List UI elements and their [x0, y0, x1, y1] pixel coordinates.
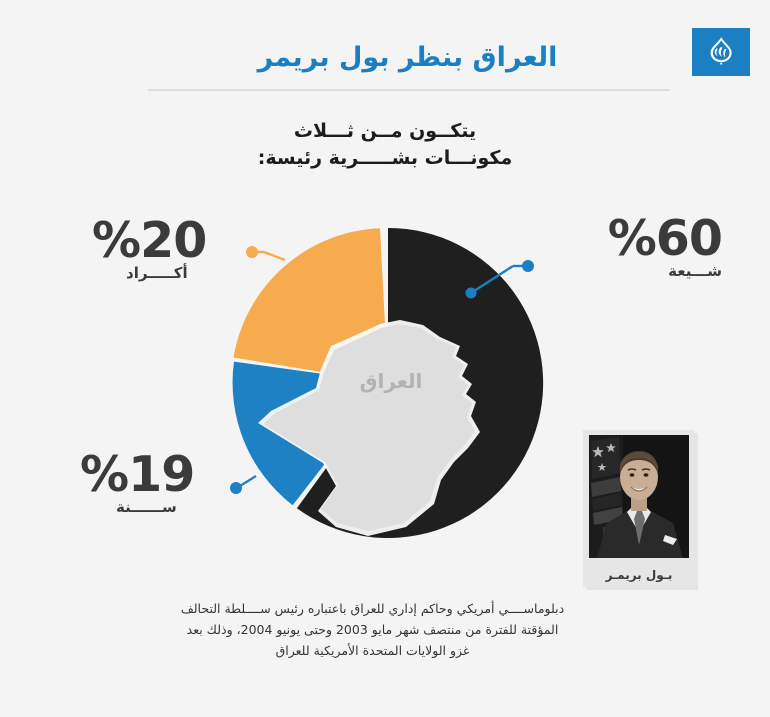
al-jazeera-logo — [692, 28, 750, 76]
callout-kurds: %20 أكـــــراد — [92, 216, 242, 282]
description-line-2: المؤقتة للفترة من منتصف شهر مايو 2003 وح… — [180, 619, 565, 640]
al-jazeera-logo-icon — [704, 35, 738, 69]
subtitle: يتكــون مــن ثـــلاث مكونـــات بشـــــري… — [0, 118, 770, 172]
description-text: دبلوماســــي أمريكي وحاكم إداري للعراق ب… — [180, 598, 565, 661]
callout-shia: %60 شـــيعة — [547, 214, 722, 280]
callout-sunni-value: %19 — [80, 450, 230, 500]
portrait-card: بـول بريمـر — [583, 430, 695, 587]
title-divider — [148, 89, 670, 91]
page-title: العراق بنظر بول بريمر — [150, 42, 665, 73]
portrait-caption: بـول بريمـر — [583, 568, 695, 582]
subtitle-line-2: مكونـــات بشـــــرية رئيسة: — [0, 145, 770, 172]
callout-kurds-value: %20 — [92, 216, 242, 266]
header: العراق بنظر بول بريمر — [0, 0, 770, 105]
paul-bremer-photo — [589, 435, 689, 558]
callout-shia-value: %60 — [547, 214, 722, 264]
subtitle-line-1: يتكــون مــن ثـــلاث — [0, 118, 770, 145]
map-center-label: العراق — [360, 369, 423, 393]
description-line-3: غزو الولايات المتحدة الأمريكية للعراق — [180, 640, 565, 661]
callout-sunni: %19 ســــــنة — [80, 450, 230, 516]
connector-kurds — [246, 246, 285, 260]
description-line-1: دبلوماســــي أمريكي وحاكم إداري للعراق ب… — [180, 598, 565, 619]
portrait-illustration — [589, 435, 689, 558]
iraq-pie-chart: العراق — [228, 218, 548, 548]
connector-sunni — [230, 476, 256, 494]
